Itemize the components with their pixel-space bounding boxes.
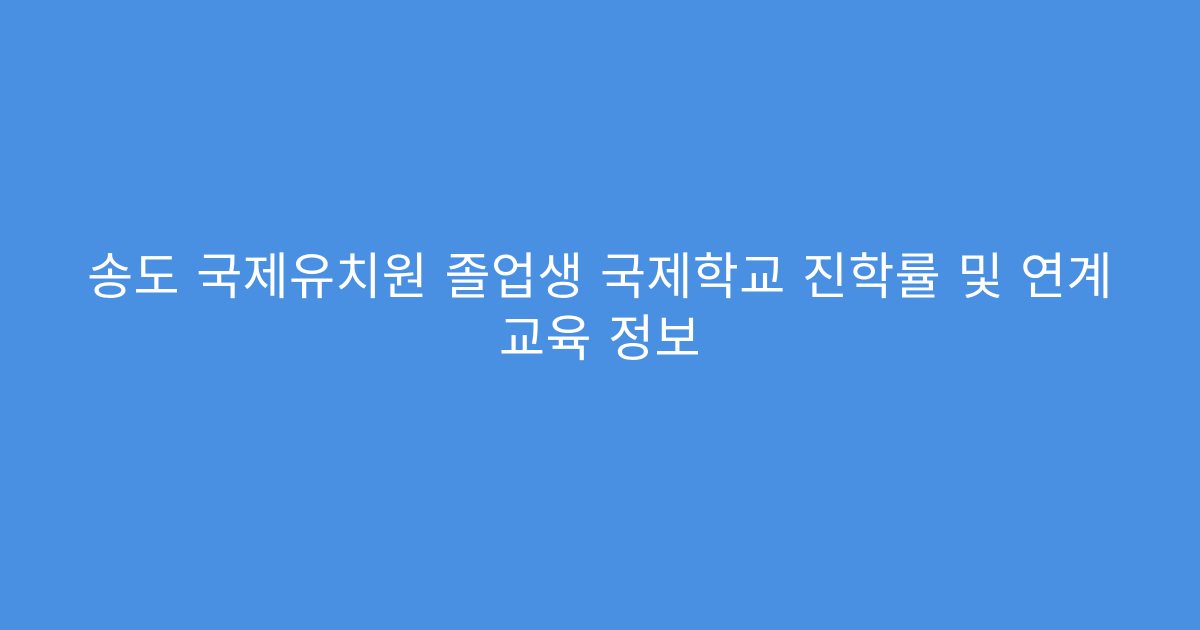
title-block: 송도 국제유치원 졸업생 국제학교 진학률 및 연계 교육 정보 <box>65 246 1135 370</box>
page-title: 송도 국제유치원 졸업생 국제학교 진학률 및 연계 교육 정보 <box>73 246 1127 370</box>
banner-card: 송도 국제유치원 졸업생 국제학교 진학률 및 연계 교육 정보 <box>0 0 1200 630</box>
